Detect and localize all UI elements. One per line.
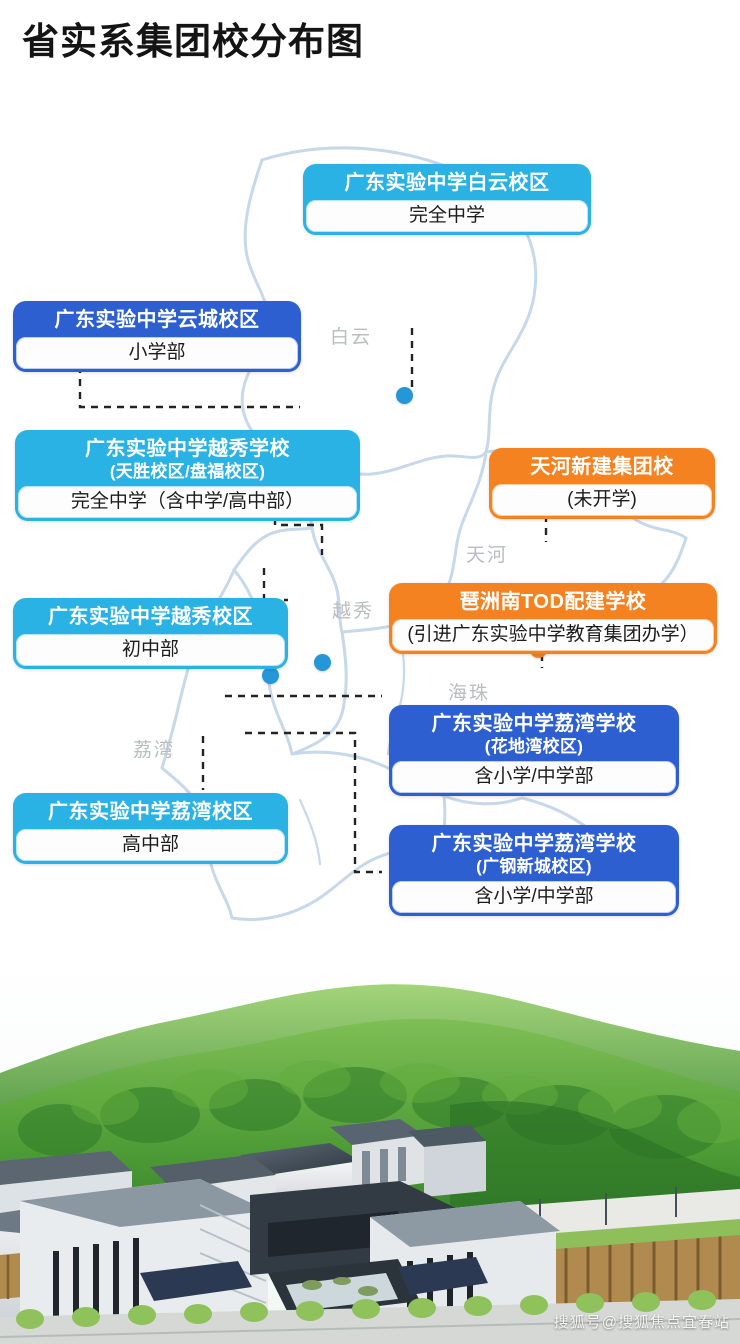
callout-pazhou-name: 琶洲南TOD配建学校 <box>402 591 704 615</box>
marker-yuexiu-campus-dot[interactable] <box>262 667 279 684</box>
callout-yuncheng-header: 广东实验中学云城校区 <box>16 304 298 337</box>
callout-liwan-campus-name: 广东实验中学荔湾校区 <box>26 801 275 825</box>
marker-yuexiu-school-dot[interactable] <box>314 654 331 671</box>
callout-yuexiu-school-body: 完全中学（含中学/高中部） <box>18 486 357 519</box>
callout-pazhou-body: (引进广东实验中学教育集团办学） <box>392 619 714 652</box>
callout-liwan-gangang-body: 含小学/中学部 <box>392 881 676 914</box>
callout-liwan-huadi-header: 广东实验中学荔湾学校(花地湾校区) <box>392 708 676 761</box>
callout-yuncheng-body: 小学部 <box>16 337 298 370</box>
district-label-4: 荔湾 <box>133 735 175 762</box>
callout-liwan-huadi[interactable]: 广东实验中学荔湾学校(花地湾校区)含小学/中学部 <box>389 705 679 796</box>
callout-yuexiu-school-name: 广东实验中学越秀学校 <box>28 438 347 462</box>
callout-liwan-gangang[interactable]: 广东实验中学荔湾学校(广钢新城校区)含小学/中学部 <box>389 825 679 916</box>
callout-liwan-campus-header: 广东实验中学荔湾校区 <box>16 796 285 829</box>
callout-baiyun[interactable]: 广东实验中学白云校区完全中学 <box>303 164 591 235</box>
callout-baiyun-body: 完全中学 <box>306 200 588 233</box>
callout-tianhe-name: 天河新建集团校 <box>502 456 702 480</box>
callout-yuexiu-school-header: 广东实验中学越秀学校(天胜校区/盘福校区) <box>18 433 357 486</box>
district-label-3: 海珠 <box>448 678 490 705</box>
callout-liwan-huadi-name: 广东实验中学荔湾学校 <box>402 713 666 737</box>
callout-tianhe[interactable]: 天河新建集团校(未开学) <box>489 448 715 519</box>
callout-yuexiu-school[interactable]: 广东实验中学越秀学校(天胜校区/盘福校区)完全中学（含中学/高中部） <box>15 430 360 521</box>
callout-yuexiu-campus[interactable]: 广东实验中学越秀校区初中部 <box>13 598 288 669</box>
callout-liwan-gangang-name: 广东实验中学荔湾学校 <box>402 833 666 857</box>
campus-aerial-image <box>0 955 740 1344</box>
callout-tianhe-header: 天河新建集团校 <box>492 451 712 484</box>
callout-yuncheng[interactable]: 广东实验中学云城校区小学部 <box>13 301 301 372</box>
callout-liwan-campus-body: 高中部 <box>16 829 285 862</box>
watermark: 搜狐号@搜狐焦点宜春站 <box>554 1311 730 1332</box>
district-label-1: 天河 <box>466 540 508 567</box>
campus-photo: 搜狐号@搜狐焦点宜春站 <box>0 955 740 1344</box>
callout-yuexiu-campus-name: 广东实验中学越秀校区 <box>26 606 275 630</box>
district-label-0: 白云 <box>330 322 372 349</box>
page-title: 省实系集团校分布图 <box>22 20 364 64</box>
callout-tianhe-body: (未开学) <box>492 484 712 517</box>
callout-liwan-huadi-body: 含小学/中学部 <box>392 761 676 794</box>
callout-pazhou-header: 琶洲南TOD配建学校 <box>392 586 714 619</box>
callout-pazhou[interactable]: 琶洲南TOD配建学校(引进广东实验中学教育集团办学） <box>389 583 717 654</box>
district-label-2: 越秀 <box>332 596 374 623</box>
callout-liwan-campus[interactable]: 广东实验中学荔湾校区高中部 <box>13 793 288 864</box>
callout-yuexiu-campus-body: 初中部 <box>16 634 285 667</box>
marker-baiyun-dot[interactable] <box>396 387 413 404</box>
callout-liwan-gangang-header: 广东实验中学荔湾学校(广钢新城校区) <box>392 828 676 881</box>
callout-baiyun-header: 广东实验中学白云校区 <box>306 167 588 200</box>
callout-yuncheng-name: 广东实验中学云城校区 <box>26 309 288 333</box>
callout-liwan-huadi-subtitle: (花地湾校区) <box>402 737 666 757</box>
callout-yuexiu-school-subtitle: (天胜校区/盘福校区) <box>28 462 347 482</box>
callout-liwan-gangang-subtitle: (广钢新城校区) <box>402 857 666 877</box>
callout-yuexiu-campus-header: 广东实验中学越秀校区 <box>16 601 285 634</box>
callout-baiyun-name: 广东实验中学白云校区 <box>316 172 578 196</box>
